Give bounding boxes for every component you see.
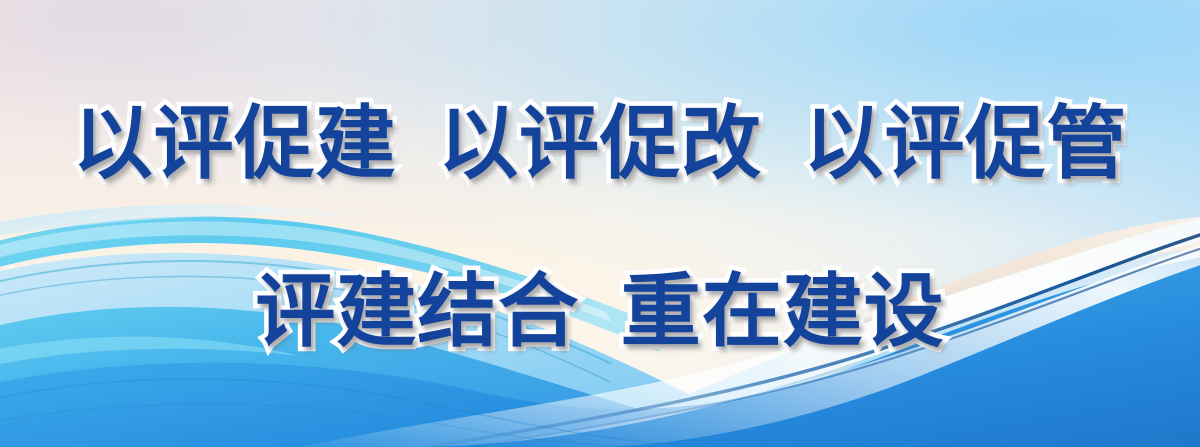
slogan-phrase-1: 以评促建 — [73, 99, 397, 188]
slogan-line-1: 以评促建以评促改以评促管 — [0, 104, 1200, 184]
slogan-phrase-2: 以评促改 — [438, 99, 762, 188]
slogan-phrase-4: 评建结合 — [255, 267, 579, 356]
slogan-banner: 以评促建以评促改以评促管 评建结合重在建设 — [0, 0, 1200, 447]
slogan-line-2: 评建结合重在建设 — [0, 272, 1200, 352]
slogan-text-layer: 以评促建以评促改以评促管 评建结合重在建设 — [0, 0, 1200, 447]
slogan-phrase-3: 以评促管 — [804, 99, 1128, 188]
slogan-phrase-5: 重在建设 — [621, 267, 945, 356]
